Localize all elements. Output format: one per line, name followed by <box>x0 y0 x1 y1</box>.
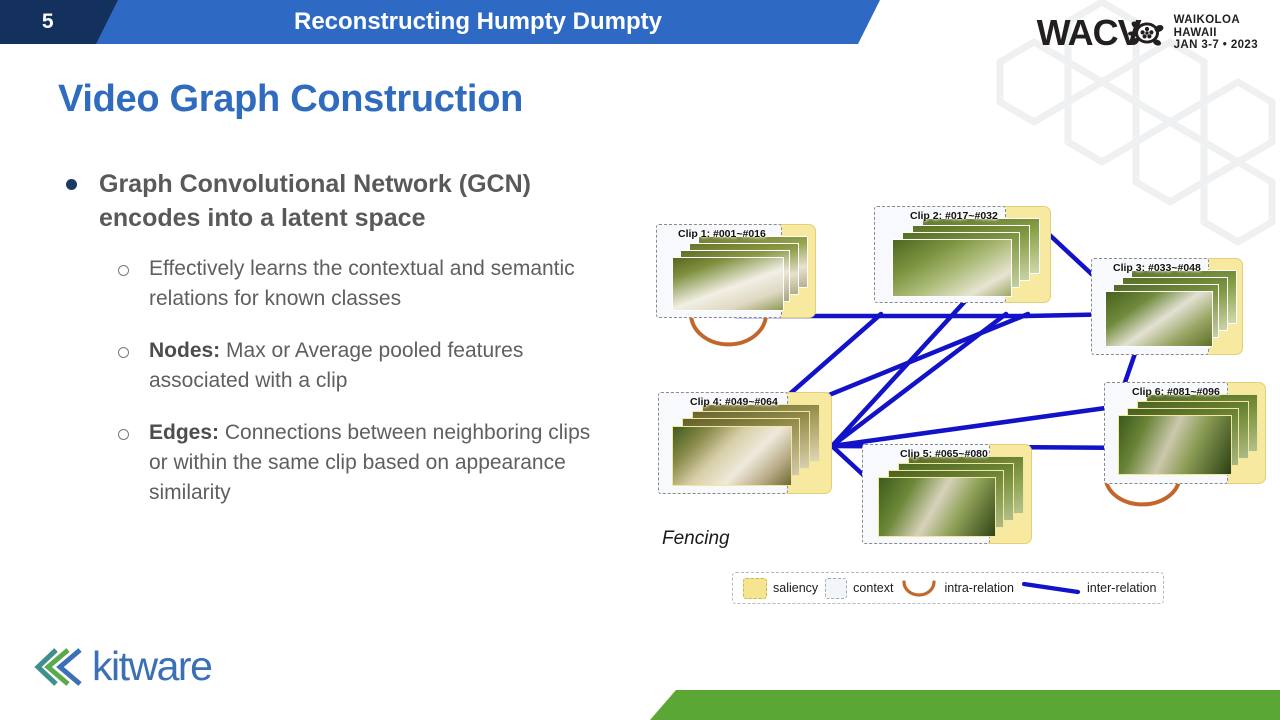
video-frame <box>672 426 792 486</box>
bullet-content: Graph Convolutional Network (GCN) encode… <box>58 168 658 530</box>
sub-bullet-1-body: Effectively learns the contextual and se… <box>149 257 575 310</box>
slide-canvas: 5 Reconstructing Humpty Dumpty WACV <box>0 0 1280 720</box>
main-bullet-text: Graph Convolutional Network (GCN) encode… <box>99 168 629 236</box>
legend-label-context: context <box>853 581 893 595</box>
clip-label: Clip 5: #065~#080 <box>900 448 988 460</box>
clip-label: Clip 3: #033~#048 <box>1113 262 1201 274</box>
kitware-wordmark: kitware <box>92 643 211 690</box>
sub-bullet-2-lead: Nodes: <box>149 339 220 362</box>
legend-item-context: context <box>825 578 893 599</box>
wacv-location-dates: WAIKOLOA HAWAII JAN 3-7 • 2023 <box>1174 14 1258 51</box>
sub-bullet-1-text: Effectively learns the contextual and se… <box>149 254 599 314</box>
clip-node-4[interactable]: Clip 4: #049~#064 <box>658 392 830 492</box>
figure-legend: saliency context intra-relation inter-re… <box>732 572 1164 604</box>
legend-item-saliency: saliency <box>743 578 818 599</box>
turtle-icon <box>1125 13 1169 53</box>
sub-bullet-3-text: Edges: Connections between neighboring c… <box>149 418 599 508</box>
kitware-chevron-icon <box>34 644 86 690</box>
wacv-line-3: JAN 3-7 • 2023 <box>1174 39 1258 51</box>
legend-label-saliency: saliency <box>773 581 818 595</box>
legend-label-inter: inter-relation <box>1087 581 1156 595</box>
video-frame <box>878 477 996 537</box>
intra-relation-arc-icon <box>900 578 938 598</box>
header-title: Reconstructing Humpty Dumpty <box>96 0 860 44</box>
clip-node-2[interactable]: Clip 2: #017~#032 <box>874 206 1049 301</box>
video-frame <box>892 239 1012 297</box>
footer-green-bar <box>632 684 1280 720</box>
legend-label-intra: intra-relation <box>944 581 1013 595</box>
video-frame <box>1105 291 1213 347</box>
wacv-line-1: WAIKOLOA <box>1174 14 1258 26</box>
video-graph-figure: Clip 1: #001~#016 Clip 2: #017~#032 <box>636 196 1196 616</box>
clip-label: Clip 4: #049~#064 <box>690 396 778 408</box>
sub-bullet-circle-icon <box>118 429 129 440</box>
context-swatch-icon <box>825 578 847 599</box>
inter-relation-line-icon <box>1021 579 1081 597</box>
clip-node-5[interactable]: Clip 5: #065~#080 <box>862 444 1030 542</box>
clip-label: Clip 6: #081~#096 <box>1132 386 1220 398</box>
wacv-line-2: HAWAII <box>1174 27 1258 39</box>
page-title: Video Graph Construction <box>58 78 523 121</box>
clip-node-1[interactable]: Clip 1: #001~#016 <box>656 224 816 316</box>
bullet-dot-icon <box>66 179 77 190</box>
clip-node-6[interactable]: Clip 6: #081~#096 <box>1104 382 1264 482</box>
main-bullet: Graph Convolutional Network (GCN) encode… <box>58 168 658 236</box>
legend-item-intra: intra-relation <box>900 578 1013 598</box>
clip-label: Clip 2: #017~#032 <box>910 210 998 222</box>
action-class-label: Fencing <box>662 528 730 550</box>
sub-bullet-3-lead: Edges: <box>149 421 219 444</box>
kitware-logo: kitware <box>34 643 211 690</box>
saliency-swatch-icon <box>743 578 767 599</box>
sub-bullet-2: Nodes: Max or Average pooled features as… <box>118 336 658 396</box>
sub-bullet-3: Edges: Connections between neighboring c… <box>118 418 658 508</box>
sub-bullet-circle-icon <box>118 347 129 358</box>
clip-label: Clip 1: #001~#016 <box>678 228 766 240</box>
clip-node-3[interactable]: Clip 3: #033~#048 <box>1091 258 1241 353</box>
slide-number: 5 <box>0 0 96 44</box>
sub-bullet-circle-icon <box>118 265 129 276</box>
sub-bullet-2-text: Nodes: Max or Average pooled features as… <box>149 336 599 396</box>
legend-item-inter: inter-relation <box>1021 579 1156 597</box>
wacv-logo: WACV WAIKOLOA HAWAII JAN 3-7 • 2023 <box>1037 6 1258 60</box>
video-frame <box>672 257 784 311</box>
sub-bullet-1: Effectively learns the contextual and se… <box>118 254 658 314</box>
video-frame <box>1118 415 1232 475</box>
